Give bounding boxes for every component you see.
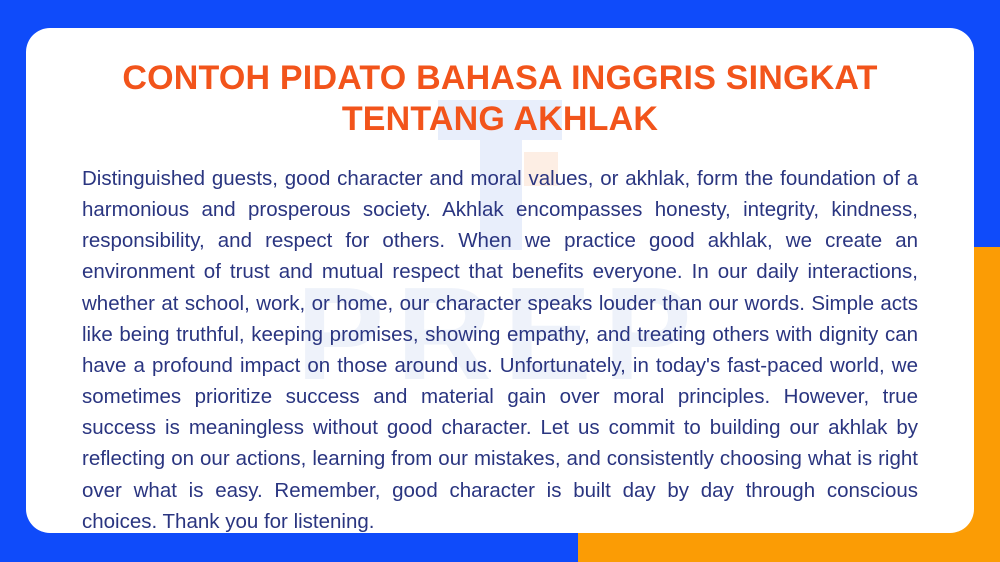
content-card: PREP CONTOH PIDATO BAHASA INGGRIS SINGKA…: [26, 28, 974, 533]
poster-canvas: PREP CONTOH PIDATO BAHASA INGGRIS SINGKA…: [0, 0, 1000, 562]
card-content: CONTOH PIDATO BAHASA INGGRIS SINGKAT TEN…: [26, 28, 974, 533]
speech-body-text: Distinguished guests, good character and…: [82, 163, 918, 533]
page-title: CONTOH PIDATO BAHASA INGGRIS SINGKAT TEN…: [82, 58, 918, 141]
